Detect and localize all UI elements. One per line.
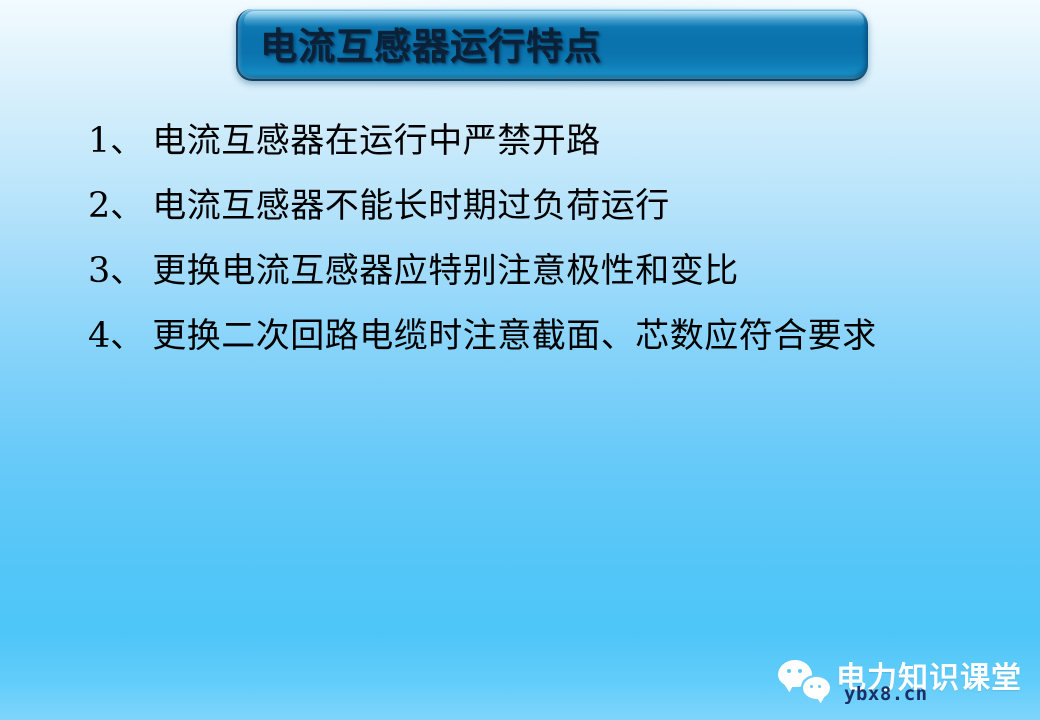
list-item-number: 2	[88, 186, 110, 226]
list-item-separator: 、	[110, 114, 143, 162]
list-item-number: 1	[88, 121, 110, 161]
list-item: 1 、 电流互感器在运行中严禁开路	[88, 113, 988, 178]
list-item-separator: 、	[110, 179, 143, 227]
list-item: 4 、 更换二次回路电缆时注意截面、芯数应符合要求	[88, 308, 988, 373]
list-item-separator: 、	[110, 244, 143, 292]
list-item: 2 、 电流互感器不能长时期过负荷运行	[88, 178, 988, 243]
slide-canvas: 电流互感器运行特点 1 、 电流互感器在运行中严禁开路 2 、 电流互感器不能长…	[0, 0, 1040, 720]
wechat-bubble-small-icon	[803, 677, 830, 699]
title-banner-body: 电流互感器运行特点	[236, 9, 868, 81]
page-title: 电流互感器运行特点	[260, 16, 602, 70]
wechat-bubble-large-dot-right-icon	[798, 669, 802, 673]
slide-title-banner: 电流互感器运行特点	[236, 9, 868, 81]
list-item-text: 更换二次回路电缆时注意截面、芯数应符合要求	[152, 308, 877, 357]
watermark-url: ybx8.cn	[844, 685, 928, 704]
wechat-icon	[778, 659, 830, 699]
wechat-bubble-small-dot-right-icon	[818, 685, 821, 688]
watermark-text-group: 电力知识课堂 ybx8.cn	[836, 664, 1022, 694]
list-item-number: 4	[88, 316, 110, 356]
list-item: 3 、 更换电流互感器应特别注意极性和变比	[88, 243, 988, 308]
list-item-number: 3	[88, 251, 110, 291]
list-item-text: 更换电流互感器应特别注意极性和变比	[152, 243, 739, 292]
list-item-text: 电流互感器在运行中严禁开路	[152, 113, 601, 162]
list-item-text: 电流互感器不能长时期过负荷运行	[152, 178, 670, 227]
wechat-bubble-large-dot-left-icon	[787, 669, 791, 673]
wechat-bubble-small-dot-left-icon	[810, 685, 813, 688]
content-list: 1 、 电流互感器在运行中严禁开路 2 、 电流互感器不能长时期过负荷运行 3 …	[88, 113, 988, 373]
watermark-logo: 电力知识课堂 ybx8.cn	[778, 652, 1022, 706]
list-item-separator: 、	[110, 309, 143, 357]
